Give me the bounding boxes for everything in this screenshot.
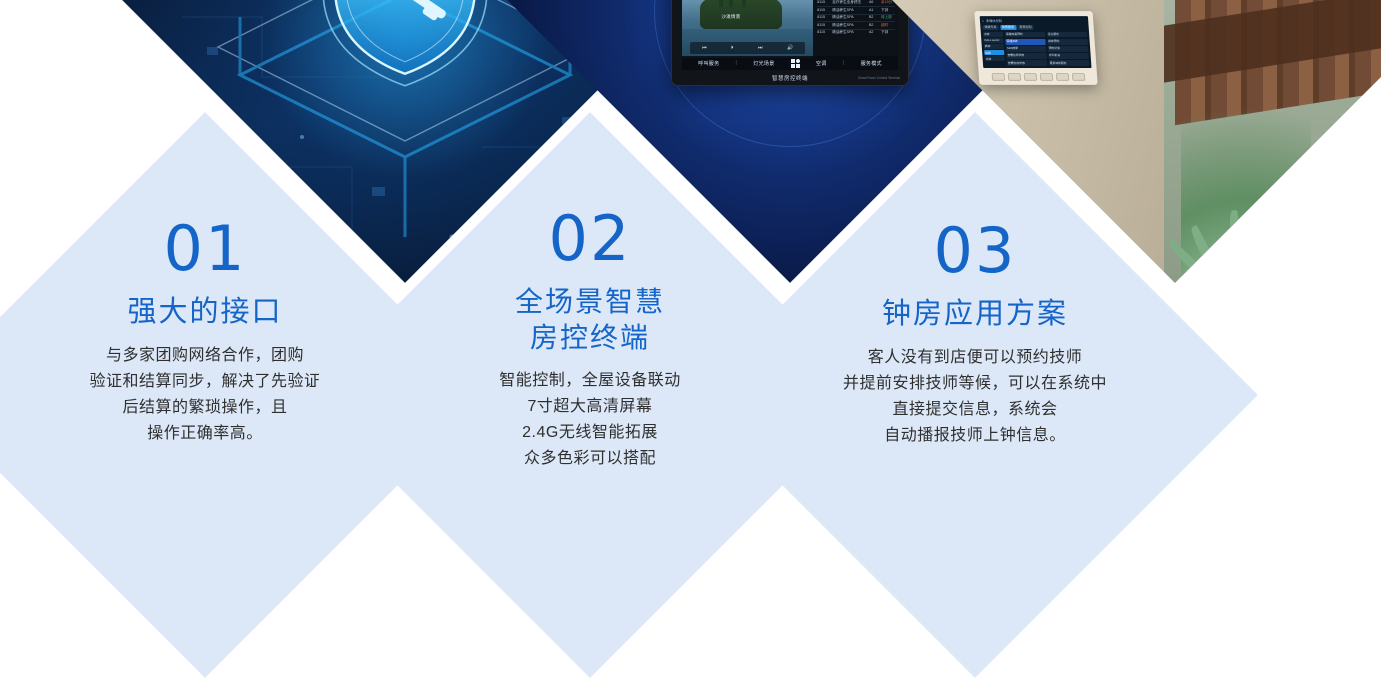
hw-button-4[interactable]	[1039, 73, 1053, 81]
play-icon[interactable]: ⏵	[731, 45, 734, 51]
side-item-0[interactable]: 点钟	[983, 32, 1003, 37]
chin-subtitle: Smart Room Control Terminal	[858, 76, 900, 80]
feature-title-01: 强大的接口	[127, 294, 282, 331]
menu-right-0[interactable]: 正在服务	[1046, 32, 1087, 38]
hw-button-2[interactable]	[1007, 73, 1021, 81]
volume-icon[interactable]: 🔊	[787, 45, 793, 51]
plant-foliage	[1181, 34, 1310, 283]
btn-call-service[interactable]: 呼叫服务	[698, 60, 719, 67]
table-row: 8115 精油养生SPA A1 下钟	[817, 6, 895, 13]
panel-screen: ⌂ 多媒体控制 保健专案 钟房服务 客房控制 点钟 CALL servic 换钟	[980, 16, 1092, 68]
feature-number-01: 01	[164, 218, 247, 280]
tab-health[interactable]: 保健专案	[982, 25, 998, 30]
menu-left-0[interactable]: 保健专案预约	[1005, 32, 1046, 38]
panel-header: ⌂ 多媒体控制	[982, 18, 1087, 23]
divider: |	[736, 60, 738, 66]
tablet-bottom-bar[interactable]: 呼叫服务 | 灯光场景 空调 | 服务模式	[682, 56, 898, 70]
service-table: 钟入 项目 技师 状态 8115 精油养生SPA A2 下钟	[817, 0, 895, 55]
table-row: 8115 精油养生SPA B2 待上钟	[817, 14, 895, 21]
feature-body-03: 客人没有到店便可以预约技师 并提前安排技师等候，可以在系统中 直接提交信息，系统…	[843, 345, 1107, 449]
menu-right-3[interactable]: 呼叫前台	[1048, 53, 1089, 59]
menu-right-4[interactable]: 更多钟房服务	[1048, 60, 1089, 66]
tab-room-control[interactable]: 客房控制	[1017, 25, 1033, 30]
panel-header-label: 多媒体控制	[986, 18, 1002, 23]
menu-left-2[interactable]: SPA按摩	[1006, 46, 1047, 52]
panel-side-menu[interactable]: 点钟 CALL servic 换钟 加钟 点钟	[983, 32, 1005, 66]
scene-wallpaper: 沙滩情景 ⏮ ⏵ ⏭ 🔊	[682, 0, 813, 58]
smart-room-tablet[interactable]: CN品牌 沙滩情景 ⏮ ⏵ ⏭	[671, 0, 909, 86]
diamond-feature-grid: CN品牌 沙滩情景 ⏮ ⏵ ⏭	[0, 0, 1381, 603]
hw-button-1[interactable]	[991, 73, 1005, 81]
side-item-2[interactable]: 换钟	[983, 44, 1003, 49]
hw-button-6[interactable]	[1071, 73, 1085, 81]
table-row: 8115 足疗养生全身舒压 A6 余15分	[817, 0, 895, 5]
feature-number-03: 03	[934, 220, 1017, 282]
side-item-3[interactable]: 加钟	[984, 50, 1004, 55]
btn-light-scene[interactable]: 灯光场景	[753, 60, 774, 67]
chin-logo: 智慧房控终端	[772, 74, 808, 82]
menu-right-1[interactable]: 排钟预约	[1047, 39, 1088, 45]
tablet-screen: 沙滩情景 ⏮ ⏵ ⏭ 🔊 22:35 SPA6房	[682, 0, 898, 58]
menu-left-3[interactable]: 查看技师状态	[1006, 53, 1047, 59]
feature-body-01: 与多家团购网络合作，团购 验证和结算同步，解决了先验证 后结算的繁琐操作，且 操…	[89, 343, 320, 447]
btn-service-mode[interactable]: 服务模式	[861, 60, 882, 67]
tablet-chin: 智慧房控终端 Smart Room Control Terminal	[672, 70, 908, 85]
menu-left-1[interactable]: 保健加钟	[1005, 39, 1046, 45]
media-controls[interactable]: ⏮ ⏵ ⏭ 🔊	[690, 42, 806, 54]
feature-title-03: 钟房应用方案	[882, 296, 1068, 333]
window-view	[1164, 0, 1381, 283]
side-item-4[interactable]: 点钟	[984, 57, 1004, 62]
menu-left-4[interactable]: 查看空房状态	[1007, 60, 1048, 66]
wall-control-panel[interactable]: ⌂ 多媒体控制 保健专案 钟房服务 客房控制 点钟 CALL servic 换钟	[974, 11, 1097, 85]
panel-menu-grid[interactable]: 保健专案预约 正在服务 保健加钟 排钟预约 SPA按摩 预约记录 查看技师状态 …	[1005, 32, 1090, 66]
divider: |	[843, 60, 845, 66]
status-panel: 22:35 SPA6房 24° 11/24 钟入 项目 技师	[813, 0, 898, 58]
menu-right-2[interactable]: 预约记录	[1047, 46, 1088, 52]
panel-tabs[interactable]: 保健专案 钟房服务 客房控制	[982, 25, 1087, 30]
table-row: 8115 精油养生SPA A2 下钟	[817, 29, 895, 36]
table-row: 8115 精油养生SPA B2 超时	[817, 21, 895, 28]
feature-body-02: 智能控制，全屋设备联动 7寸超大高清屏幕 2.4G无线智能拓展 众多色彩可以搭配	[499, 368, 681, 472]
btn-aircon[interactable]: 空调	[816, 60, 827, 67]
hw-button-5[interactable]	[1055, 73, 1069, 81]
tab-room-service[interactable]: 钟房服务	[1000, 25, 1016, 30]
shield-lock-icon	[280, 0, 530, 113]
app-grid-icon[interactable]	[791, 59, 800, 68]
hw-button-3[interactable]	[1023, 73, 1037, 81]
prev-icon[interactable]: ⏮	[702, 45, 707, 51]
side-item-1[interactable]: CALL servic	[983, 38, 1003, 43]
feature-title-02: 全场景智慧 房控终端	[515, 284, 665, 356]
panel-hardware-buttons[interactable]	[984, 73, 1093, 81]
next-icon[interactable]: ⏭	[758, 45, 763, 51]
feature-number-02: 02	[549, 208, 632, 270]
scene-label: 沙滩情景	[721, 14, 740, 20]
panel-home-icon: ⌂	[982, 19, 984, 23]
